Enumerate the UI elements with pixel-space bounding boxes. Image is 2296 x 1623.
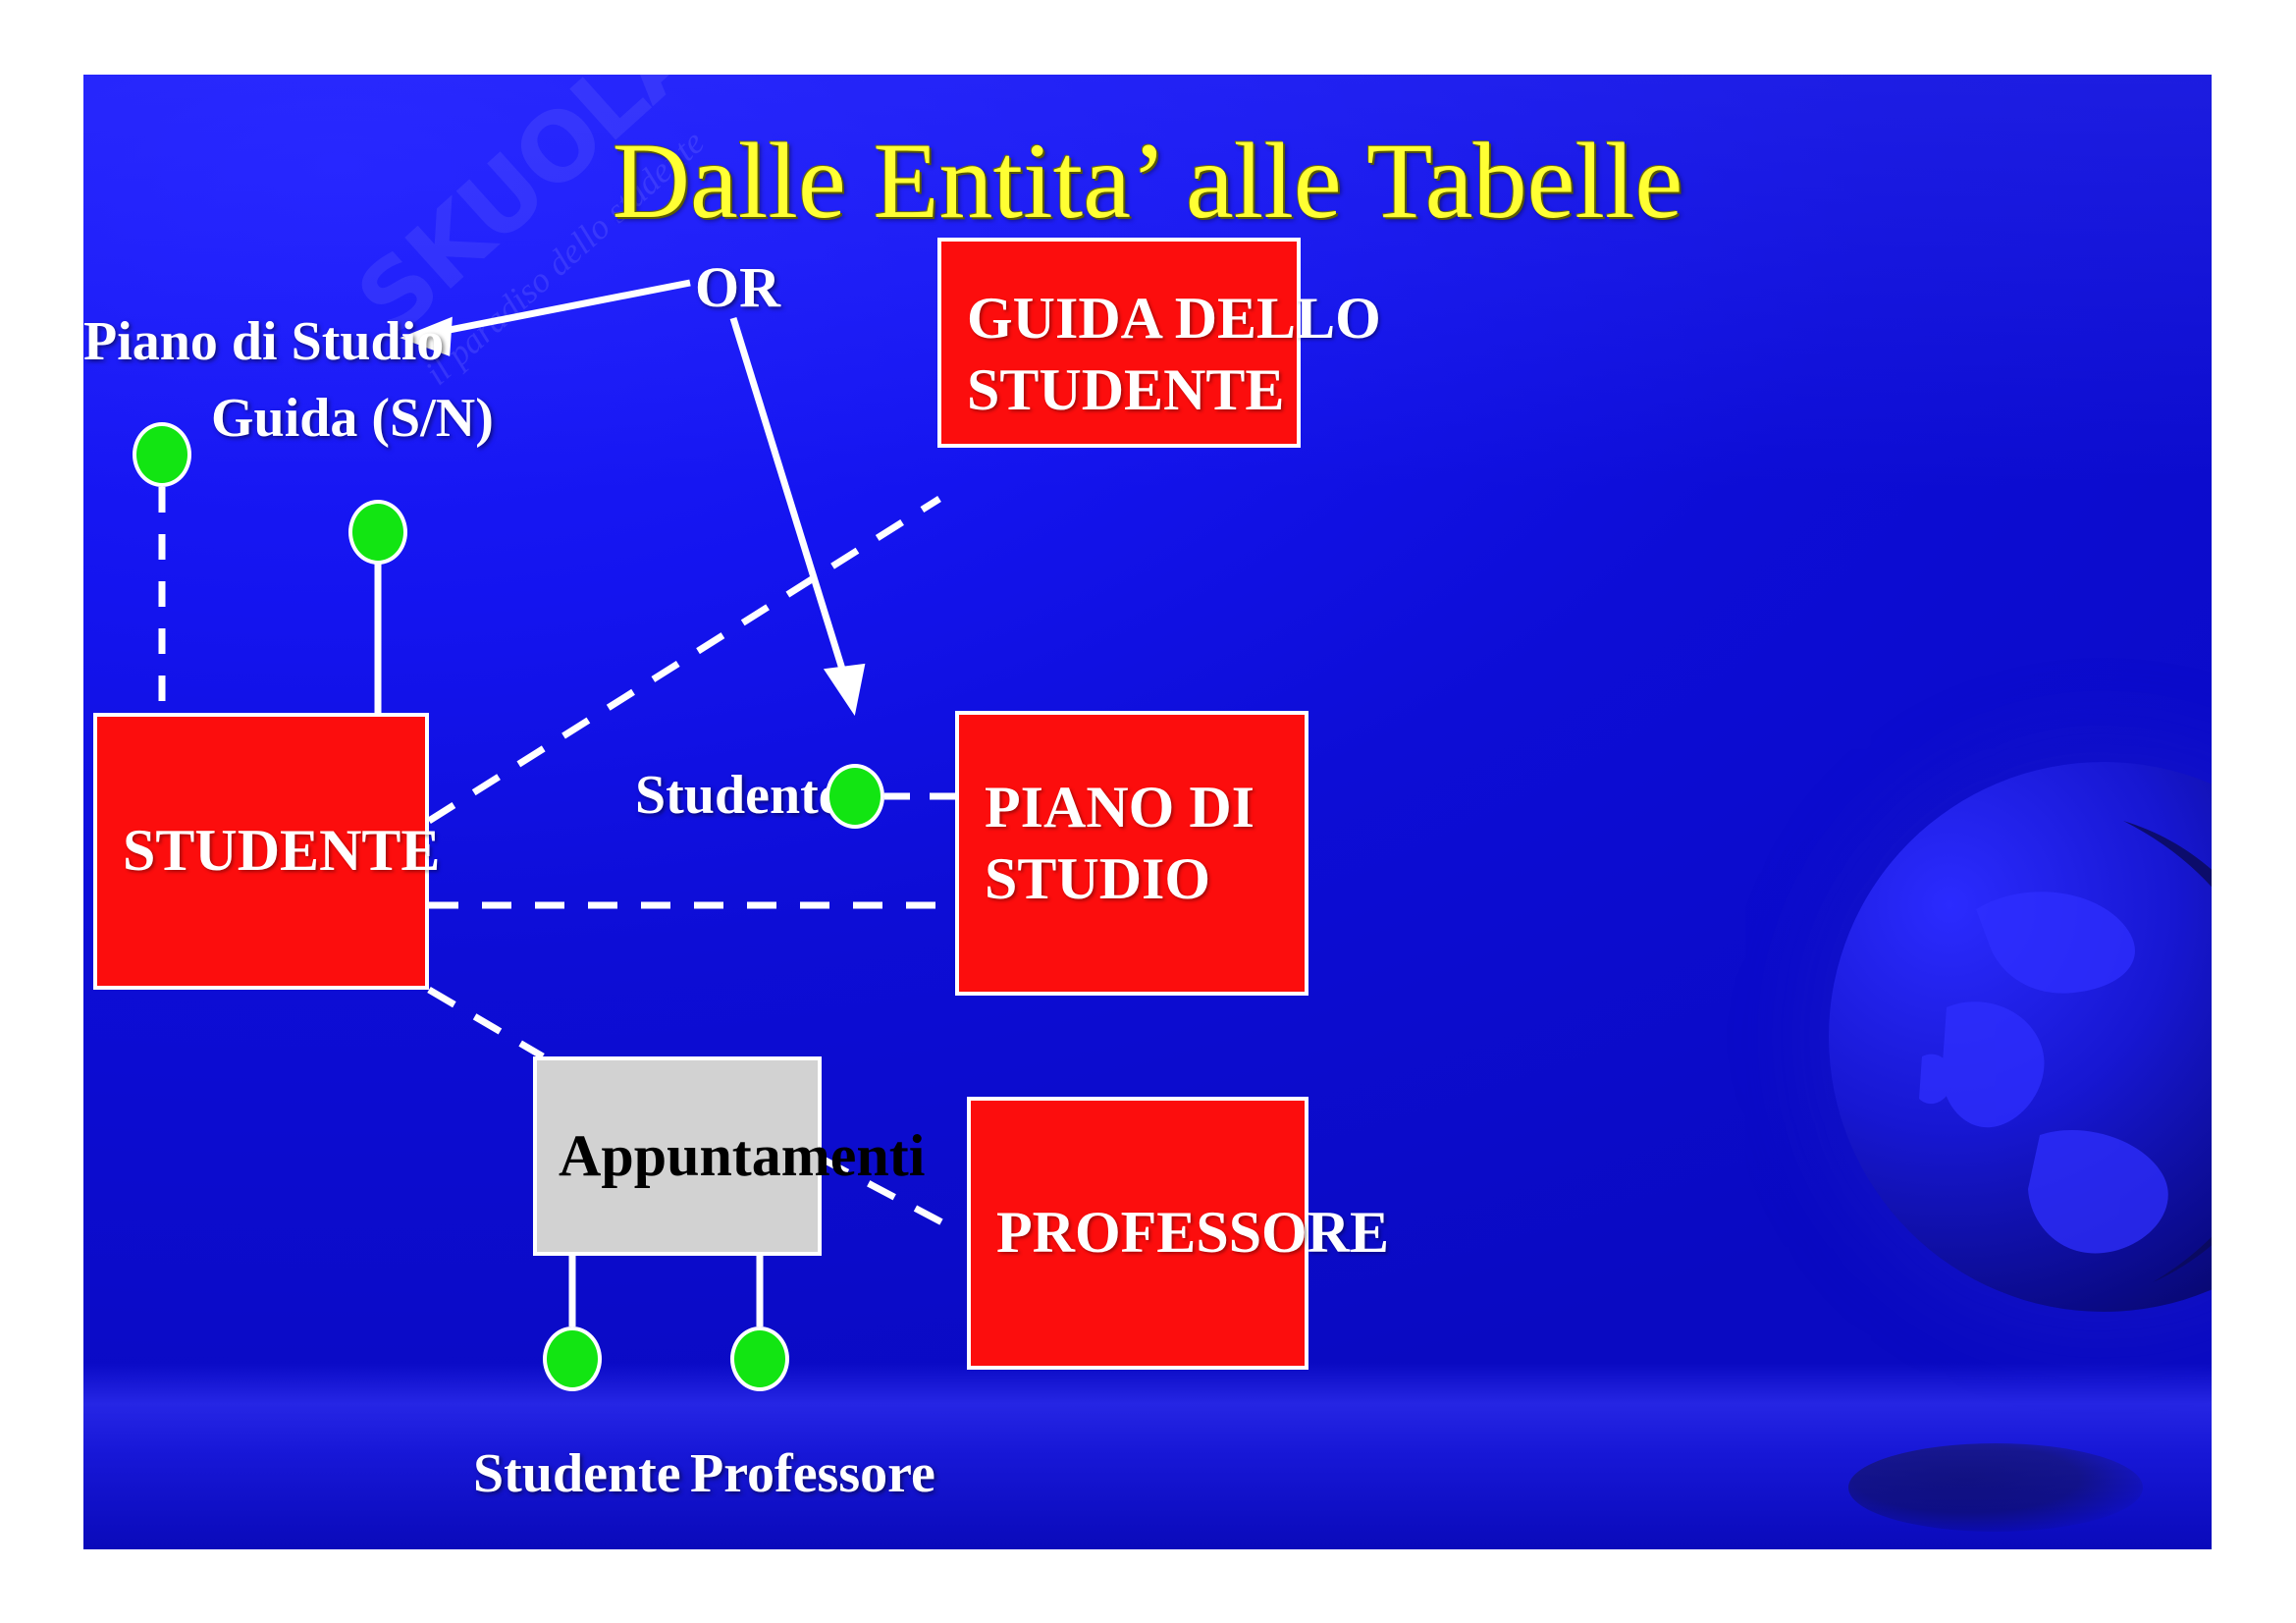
slide-canvas: SKUOLA.net il paradiso dello studente xyxy=(83,75,2212,1549)
attribute-label-professore-appuntamenti: Professore xyxy=(690,1442,935,1505)
relation-box-appuntamenti-label: Appuntamenti xyxy=(537,1120,925,1192)
attribute-circle-professore-appuntamenti[interactable] xyxy=(730,1326,789,1391)
or-arrow-down xyxy=(733,318,861,707)
entity-box-professore-label: PROFESSORE xyxy=(971,1197,1389,1269)
entity-box-piano-di-studio[interactable]: PIANO DI STUDIO xyxy=(955,711,1308,996)
entity-box-guida-line2: STUDENTE xyxy=(967,354,1381,426)
attribute-circle-studente-piano[interactable] xyxy=(826,764,884,829)
page-title: Dalle Entita’ alle Tabelle xyxy=(83,122,2212,241)
attribute-circle-guida-sn[interactable] xyxy=(348,500,407,565)
link-studente-appuntamenti xyxy=(429,990,543,1056)
background-bottom-glow xyxy=(83,1363,2212,1549)
relation-box-appuntamenti[interactable]: Appuntamenti xyxy=(533,1056,822,1256)
entity-box-guida-dello-studente[interactable]: GUIDA DELLO STUDENTE xyxy=(937,238,1301,448)
attribute-circle-studente-appuntamenti[interactable] xyxy=(543,1326,602,1391)
or-label: OR xyxy=(695,254,780,320)
slide-page: SKUOLA.net il paradiso dello studente xyxy=(0,0,2296,1623)
globe-continents-icon xyxy=(1829,762,2212,1312)
entity-box-studente-label: STUDENTE xyxy=(97,815,440,887)
attribute-label-piano-di-studio: Piano di Studio xyxy=(83,310,444,373)
or-arrow-left xyxy=(409,283,690,352)
attribute-label-studente-piano: Studente xyxy=(635,764,843,827)
entity-box-guida-line1: GUIDA DELLO xyxy=(967,283,1381,354)
entity-box-professore[interactable]: PROFESSORE xyxy=(967,1097,1308,1370)
entity-box-piano-line1: PIANO DI xyxy=(985,772,1255,843)
attribute-circle-piano-di-studio[interactable] xyxy=(133,422,191,487)
attribute-label-guida-sn: Guida (S/N) xyxy=(211,387,494,450)
attribute-label-studente-appuntamenti: Studente xyxy=(473,1442,681,1505)
globe-shadow xyxy=(1848,1443,2143,1532)
entity-box-studente[interactable]: STUDENTE xyxy=(93,713,429,990)
globe-graphic xyxy=(1829,762,2212,1312)
entity-box-piano-line2: STUDIO xyxy=(985,843,1255,915)
